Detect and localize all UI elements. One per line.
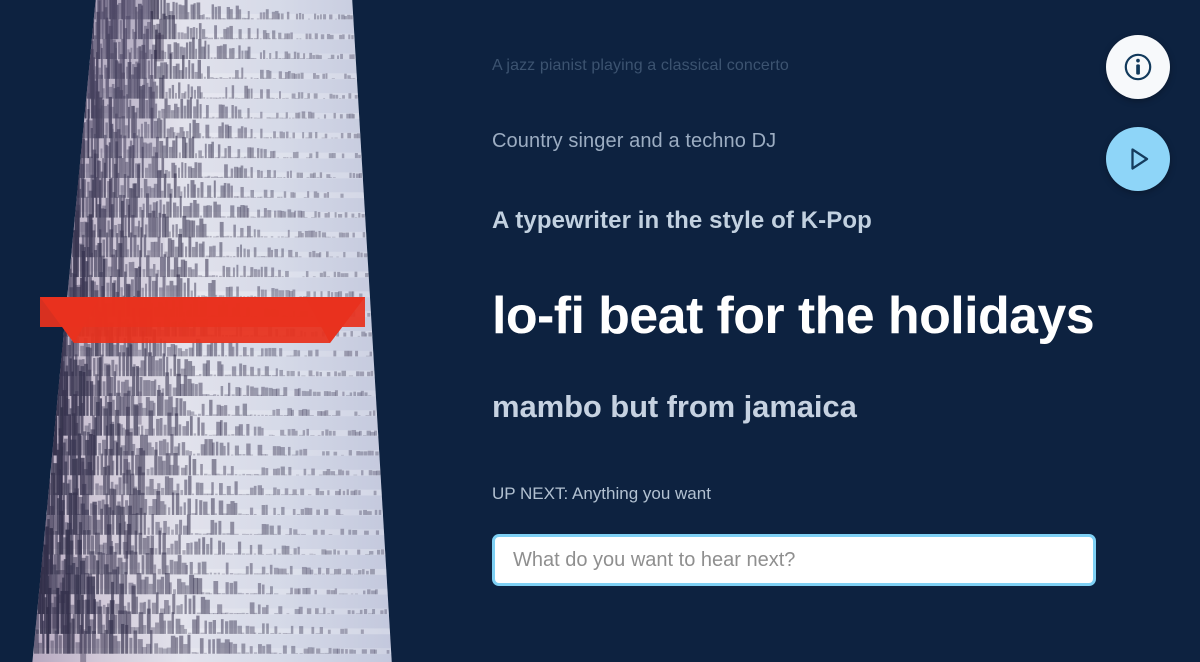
audio-visualizer-panel bbox=[0, 0, 430, 662]
history-item-older: A jazz pianist playing a classical conce… bbox=[492, 57, 789, 75]
info-button[interactable] bbox=[1106, 35, 1170, 99]
app-stage: A jazz pianist playing a classical conce… bbox=[0, 0, 1200, 662]
history-item-recent: A typewriter in the style of K-Pop bbox=[492, 207, 872, 235]
play-button[interactable] bbox=[1106, 127, 1170, 191]
playhead-marker[interactable] bbox=[40, 293, 365, 345]
up-next-label: UP NEXT: Anything you want bbox=[492, 484, 711, 504]
prompt-input-container bbox=[492, 534, 1096, 586]
prompt-input[interactable] bbox=[492, 534, 1096, 586]
history-item-previous: Country singer and a techno DJ bbox=[492, 130, 776, 153]
info-circle-icon bbox=[1123, 52, 1153, 82]
playhead-marker-shape bbox=[40, 293, 365, 345]
prompt-history-column: A jazz pianist playing a classical conce… bbox=[492, 0, 1102, 662]
play-triangle-icon bbox=[1123, 144, 1153, 174]
now-playing-title: lo-fi beat for the holidays bbox=[492, 285, 1094, 347]
next-track-title: mambo but from jamaica bbox=[492, 389, 857, 425]
